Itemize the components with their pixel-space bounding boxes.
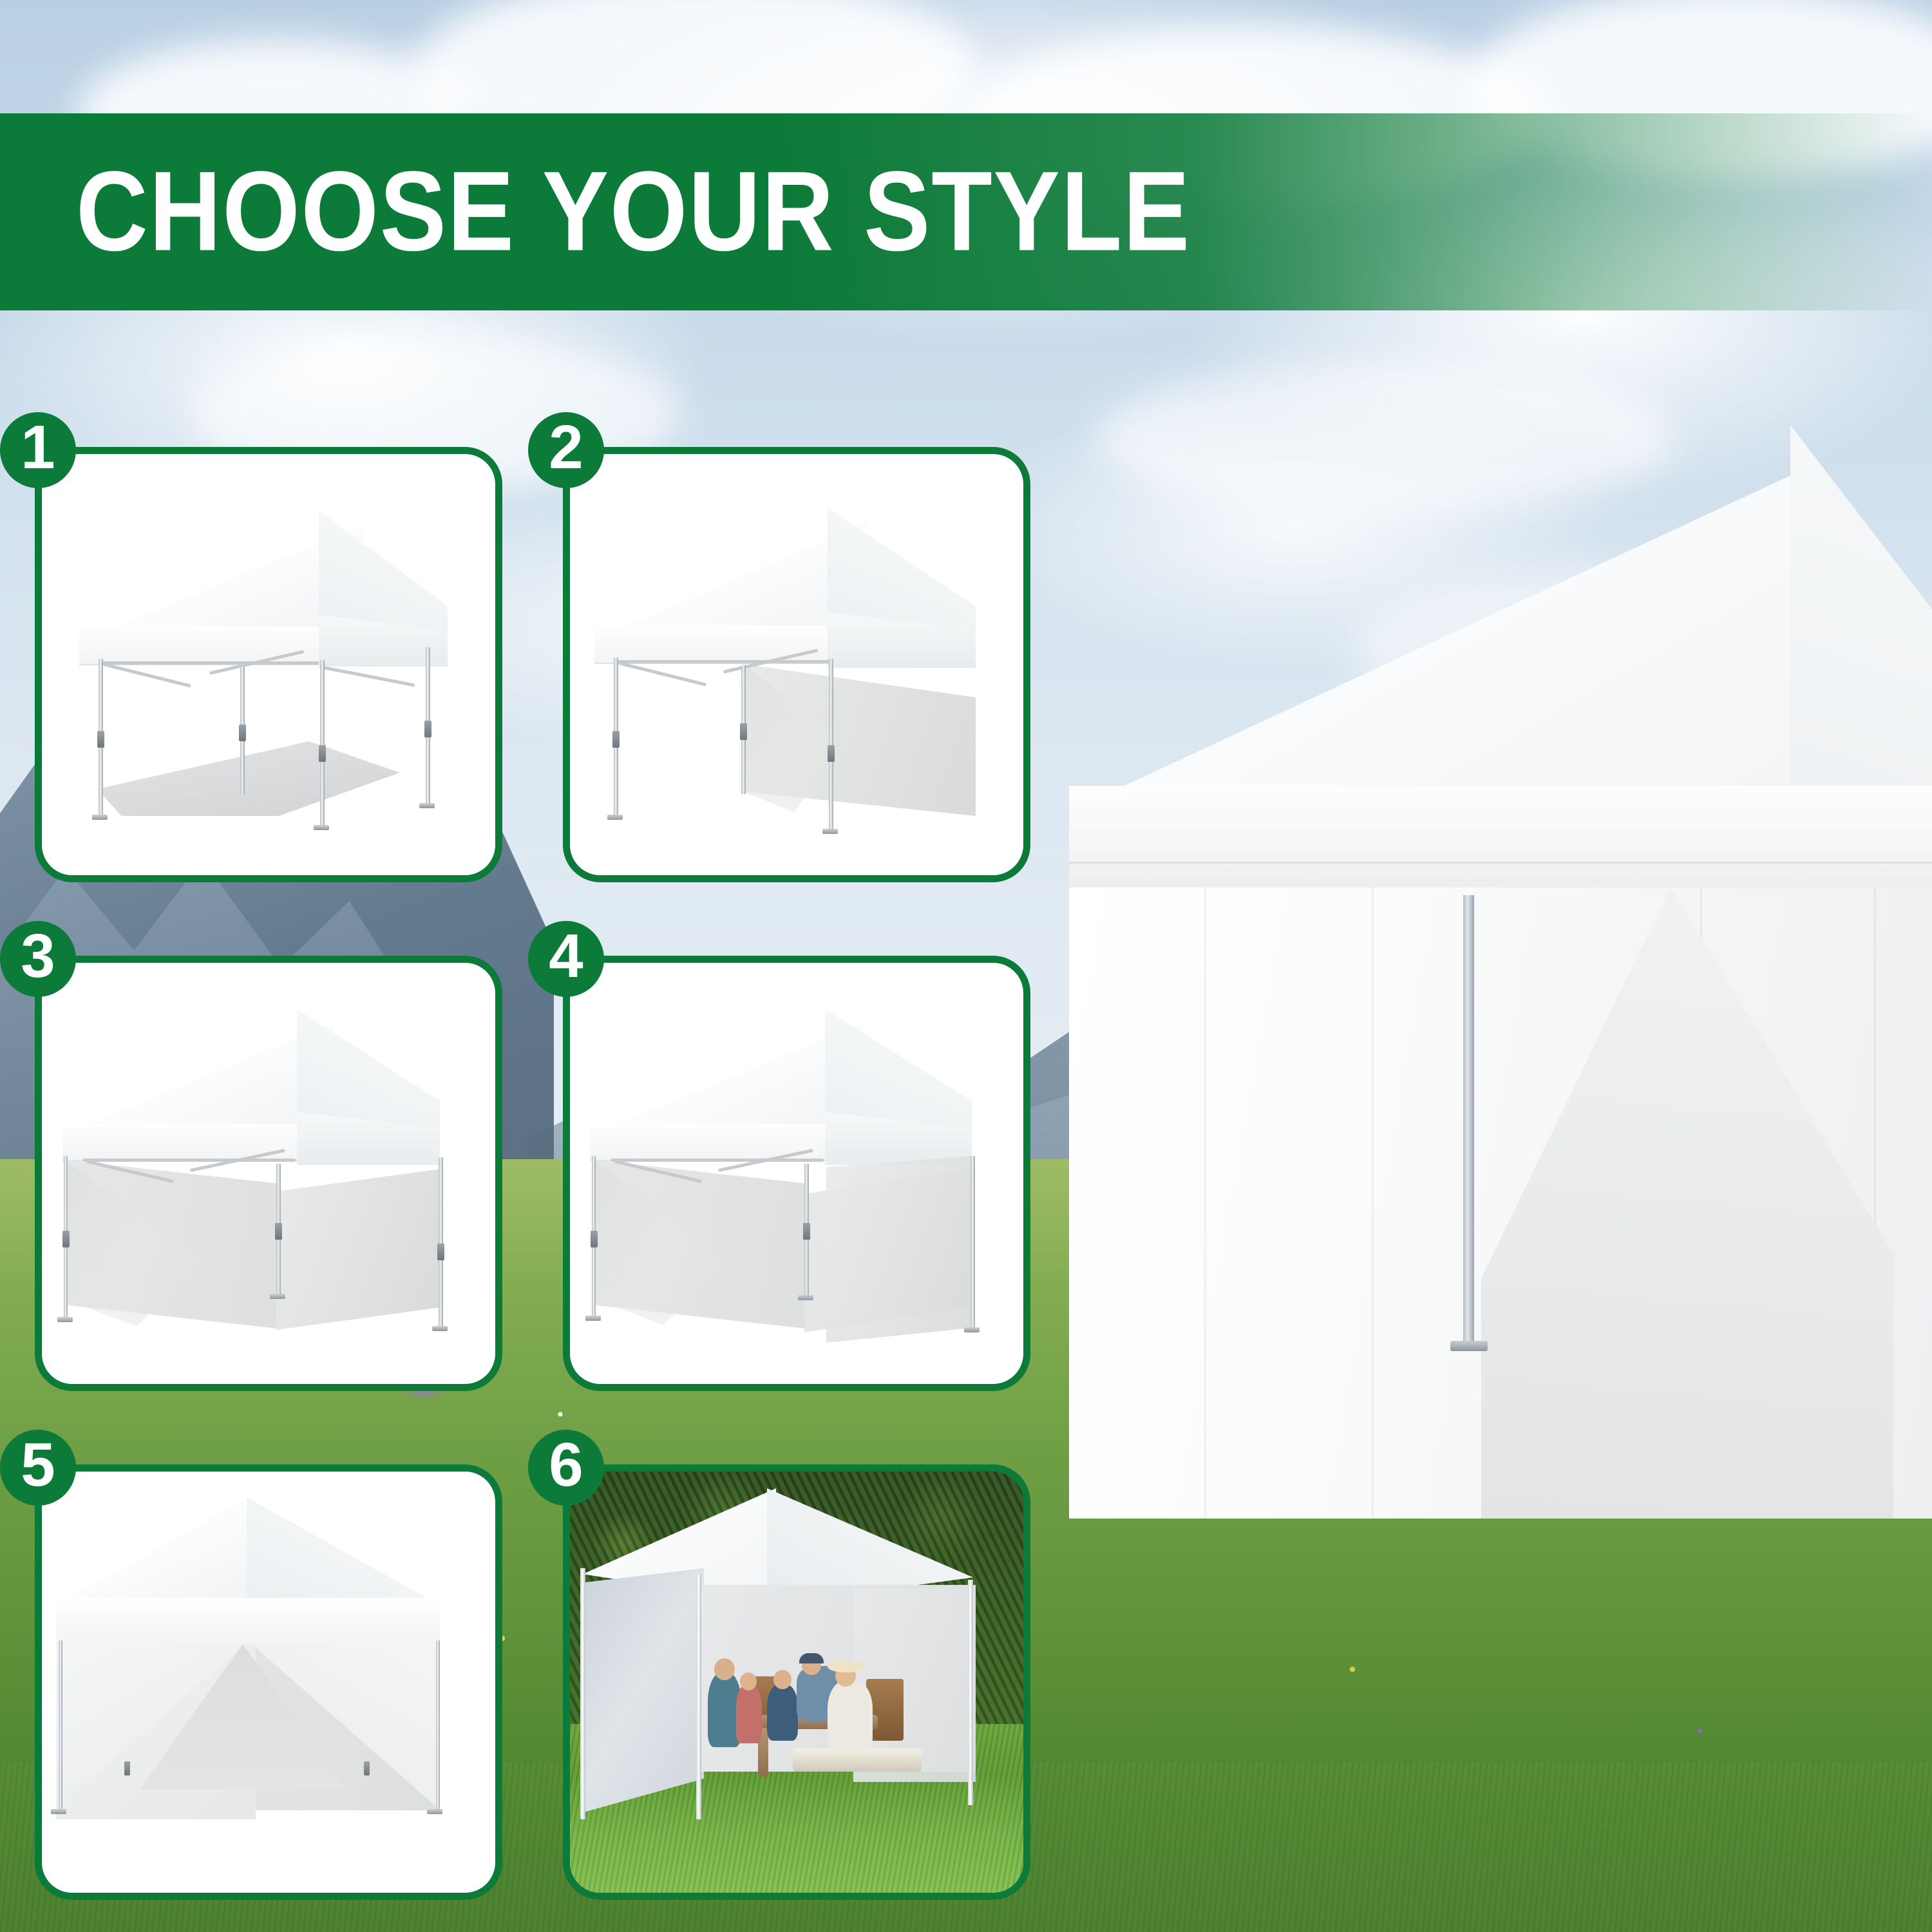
page-title: CHOOSE YOUR STYLE — [76, 158, 1191, 265]
option-card-3[interactable]: 3 — [0, 921, 502, 1391]
option-card-4[interactable]: 4 — [528, 921, 1030, 1391]
hero-canopy-valance — [1069, 786, 1932, 891]
hero-canopy — [1069, 399, 1932, 1520]
option-card-5[interactable]: 5 — [0, 1430, 502, 1900]
style-options-grid: 1 — [0, 412, 1030, 1932]
tent-illustration-1 — [42, 454, 495, 875]
lifestyle-photo — [570, 1472, 1023, 1893]
option-5-frame — [35, 1464, 502, 1900]
hero-roof-face-right — [1790, 425, 1932, 811]
tent-illustration-5 — [42, 1472, 495, 1893]
header-banner: CHOOSE YOUR STYLE — [0, 113, 1932, 310]
hero-center-foot — [1450, 1341, 1488, 1351]
option-2-frame — [563, 447, 1030, 882]
option-card-2[interactable]: 2 — [528, 412, 1030, 882]
person-5 — [828, 1680, 873, 1751]
option-3-frame — [35, 956, 502, 1391]
option-card-1[interactable]: 1 — [0, 412, 502, 882]
tent-illustration-2 — [570, 454, 1023, 875]
hero-center-leg — [1463, 895, 1474, 1346]
product-infographic: CHOOSE YOUR STYLE — [0, 0, 1932, 1932]
option-number-badge-6: 6 — [528, 1430, 604, 1506]
tent-illustration-3 — [42, 963, 495, 1384]
option-4-frame — [563, 956, 1030, 1391]
option-number-badge-4: 4 — [528, 921, 604, 997]
option-1-frame — [35, 447, 502, 882]
option-number-badge-2: 2 — [528, 412, 604, 488]
person-2 — [736, 1684, 762, 1743]
hero-canopy-roof — [1069, 399, 1932, 811]
hero-roof-face-left — [1069, 464, 1816, 811]
option-card-6[interactable]: 6 — [528, 1430, 1030, 1900]
option-number-badge-1: 1 — [0, 412, 76, 488]
option-number-badge-5: 5 — [0, 1430, 76, 1506]
option-6-frame — [563, 1464, 1030, 1900]
person-3 — [767, 1684, 798, 1741]
option-number-badge-3: 3 — [0, 921, 76, 997]
tent-illustration-4 — [570, 963, 1023, 1384]
